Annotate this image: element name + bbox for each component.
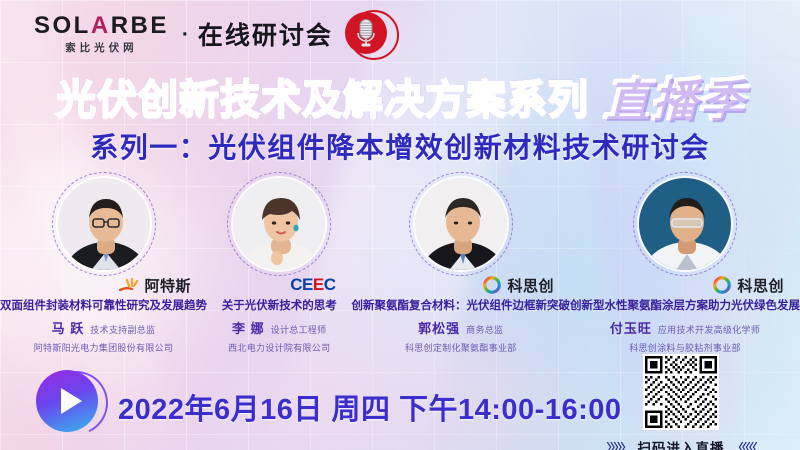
avatar xyxy=(637,176,733,272)
speaker-organization: 阿特斯阳光电力集团股份有限公司 xyxy=(34,341,174,354)
speaker-role: 设计总工程师 xyxy=(271,323,327,336)
avatar xyxy=(413,176,509,272)
poster-footer: 2022年6月16日 周四 下午14:00-16:00 xyxy=(0,358,800,450)
speaker-company-logo: 科思创 xyxy=(570,274,800,296)
avatar xyxy=(56,176,152,272)
chevron-left-icon: 〈〈〈〈〈 xyxy=(733,439,756,450)
speaker-card: 科思创 创新型水性聚氨酯涂层方案助力光伏绿色发展 付玉旺 应用技术开发高级化学师… xyxy=(570,176,800,354)
speaker-card: CEEC 关于光伏新技术的思考 李 娜 设计总工程师 西北电力设计院有限公司 xyxy=(207,176,352,354)
speaker-name: 付玉旺 xyxy=(610,318,652,337)
speaker-name-line: 郭松强 商务总监 xyxy=(418,318,503,337)
speaker-name-line: 李 娜 设计总工程师 xyxy=(232,318,326,337)
company-logo-text: 科思创 xyxy=(507,275,554,296)
speaker-photo-wrap xyxy=(56,176,152,272)
header-webinar-label: 在线研讨会 xyxy=(198,16,333,52)
page-subtitle: 系列一：光伏组件降本增效创新材料技术研讨会 xyxy=(90,132,710,163)
solarbe-chinese-name: 索比光伏网 xyxy=(65,43,138,54)
ceec-logo-text: CEEC xyxy=(290,275,335,294)
play-triangle xyxy=(61,388,82,414)
microphone-glyph xyxy=(355,18,377,48)
play-button-circle xyxy=(36,370,98,432)
speaker-role: 应用技术开发高级化学师 xyxy=(658,323,760,336)
covestro-ring-icon xyxy=(713,276,731,294)
speaker-name-line: 付玉旺 应用技术开发高级化学师 xyxy=(610,318,760,337)
play-button-icon[interactable] xyxy=(36,370,102,436)
qr-code-icon[interactable] xyxy=(643,354,719,430)
speaker-name: 马 跃 xyxy=(52,318,85,337)
speaker-name: 李 娜 xyxy=(232,318,265,337)
speaker-card: 阿特斯 双面组件封装材料可靠性研究及发展趋势 马 跃 技术支持副总监 阿特斯阳光… xyxy=(0,176,207,354)
solarbe-logo: SOLARBE 索比光伏网 xyxy=(34,14,169,54)
solarbe-wordmark: SOLARBE xyxy=(34,14,169,38)
speaker-name-line: 马 跃 技术支持副总监 xyxy=(52,318,156,337)
solarbe-wordmark-text: SOLARBE xyxy=(34,12,169,39)
avatar xyxy=(231,176,327,272)
speaker-role: 技术支持副总监 xyxy=(90,323,155,336)
speaker-topic: 创新型水性聚氨酯涂层方案助力光伏绿色发展 xyxy=(570,299,800,313)
speaker-organization: 科思创定制化聚氨酯事业部 xyxy=(405,341,517,354)
avatar-illustration xyxy=(639,178,733,272)
speaker-topic: 创新聚氨酯复合材料：光伏组件边框新突破 xyxy=(352,299,571,313)
speaker-topic: 关于光伏新技术的思考 xyxy=(222,299,337,313)
speaker-card: 科思创 创新聚氨酯复合材料：光伏组件边框新突破 郭松强 商务总监 科思创定制化聚… xyxy=(352,176,571,354)
live-season-title: 直播季 xyxy=(603,63,744,129)
speaker-photo-wrap xyxy=(637,176,733,272)
webinar-poster: SOLARBE 索比光伏网 · 在线研讨会 xyxy=(0,0,800,450)
qr-block: 〉〉〉〉〉 扫码进入直播 〈〈〈〈〈 xyxy=(606,354,756,450)
speaker-photo-wrap xyxy=(413,176,509,272)
speaker-organization: 科思创涂料与胶粘剂事业部 xyxy=(629,341,741,354)
microphone-disc xyxy=(345,12,387,54)
speaker-company-logo: CEEC xyxy=(207,274,352,296)
speaker-organization: 西北电力设计院有限公司 xyxy=(228,341,330,354)
speaker-company-logo: 科思创 xyxy=(352,274,571,296)
avatar-illustration xyxy=(415,178,509,272)
qr-caption-row: 〉〉〉〉〉 扫码进入直播 〈〈〈〈〈 xyxy=(607,437,756,450)
ceec-logo-icon: CEEC xyxy=(290,275,335,295)
speaker-topic: 双面组件封装材料可靠性研究及发展趋势 xyxy=(0,299,207,313)
sunburst-icon xyxy=(119,278,139,292)
event-datetime: 2022年6月16日 周四 下午14:00-16:00 xyxy=(118,386,622,428)
speaker-name: 郭松强 xyxy=(418,318,460,337)
avatar-illustration xyxy=(58,178,152,272)
company-logo-text: 阿特斯 xyxy=(144,275,191,296)
main-title-row: 光伏创新技术及解决方案系列 直播季 xyxy=(0,70,800,122)
covestro-ring-icon xyxy=(483,276,501,294)
chevron-right-icon: 〉〉〉〉〉 xyxy=(607,439,630,450)
microphone-icon xyxy=(345,10,393,58)
qr-caption: 扫码进入直播 xyxy=(638,437,725,450)
subtitle-row: 系列一：光伏组件降本增效创新材料技术研讨会 xyxy=(0,126,800,166)
speaker-photo-wrap xyxy=(231,176,327,272)
speaker-role: 商务总监 xyxy=(466,323,503,336)
poster-header: SOLARBE 索比光伏网 · 在线研讨会 xyxy=(0,0,800,68)
speaker-list: 阿特斯 双面组件封装材料可靠性研究及发展趋势 马 跃 技术支持副总监 阿特斯阳光… xyxy=(0,176,800,354)
header-separator-dot: · xyxy=(182,24,189,45)
speaker-company-logo: 阿特斯 xyxy=(0,274,207,296)
company-logo-text: 科思创 xyxy=(737,275,784,296)
page-title: 光伏创新技术及解决方案系列 xyxy=(56,67,589,125)
